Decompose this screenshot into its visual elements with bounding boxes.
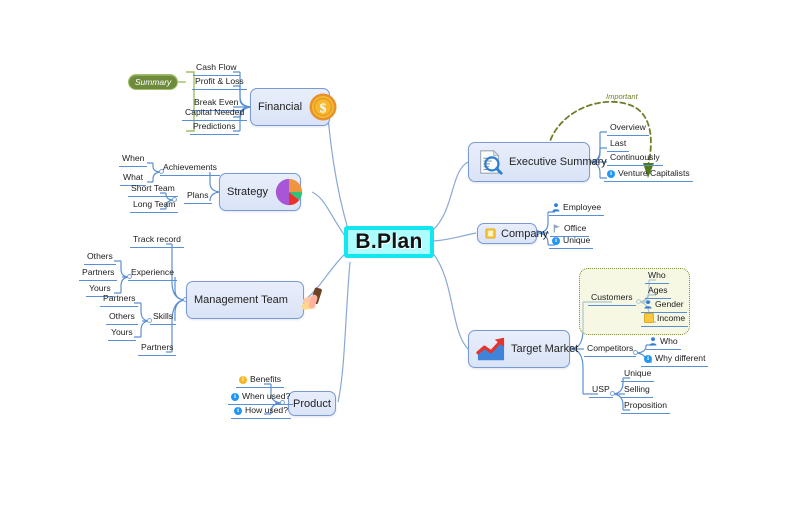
subtopic-label: Cash Flow: [196, 62, 237, 73]
person-icon: [644, 300, 652, 309]
subtopic-profit-loss[interactable]: Profit & Loss: [192, 76, 247, 90]
main-topic-label: Company: [501, 228, 548, 240]
subtopic-label: Why different: [655, 353, 705, 364]
subtopic-plans[interactable]: Plans: [184, 190, 212, 204]
subtopic-who[interactable]: Who: [645, 270, 669, 284]
main-topic-executive-summary[interactable]: Executive Summary: [468, 142, 590, 182]
subtopic-usp-unique[interactable]: Unique: [621, 368, 654, 382]
subtopic-skills-partners[interactable]: Partners: [100, 293, 138, 307]
subtopic-venture-capitalists[interactable]: Venture Capitalists: [604, 168, 693, 182]
subtopic-gender[interactable]: Gender: [641, 299, 687, 313]
subtopic-long-team[interactable]: Long Team: [130, 199, 178, 213]
subtopic-competitors-who[interactable]: Who: [646, 336, 681, 350]
gold-coin-icon: $: [308, 92, 338, 122]
subtopic-capital-needed[interactable]: Capital Needed: [182, 107, 247, 121]
subtopic-label: Profit & Loss: [195, 76, 244, 87]
subtopic-label: Short Team: [131, 183, 175, 194]
subtopic-label: Skills: [153, 311, 173, 322]
subtopic-label: Unique: [563, 235, 590, 246]
main-topic-label: Executive Summary: [509, 156, 607, 168]
subtopic-label: Others: [87, 251, 113, 262]
subtopic-label: Long Team: [133, 199, 175, 210]
subtopic-label: Partners: [141, 342, 173, 353]
subtopic-unique[interactable]: Unique: [549, 235, 593, 249]
subtopic-track-record[interactable]: Track record: [130, 234, 184, 248]
main-topic-label: Management Team: [194, 294, 288, 306]
subtopic-label: Who: [648, 270, 666, 281]
subtopic-label: Benefits: [250, 374, 281, 385]
subtopic-label: When used?: [242, 391, 290, 402]
subtopic-short-team[interactable]: Short Team: [128, 183, 178, 197]
main-topic-label: Target Market: [511, 343, 578, 355]
subtopic-label: Predictions: [193, 121, 236, 132]
subtopic-usp-selling[interactable]: Selling: [621, 384, 653, 398]
main-topic-strategy[interactable]: Strategy: [219, 173, 301, 211]
subtopic-usp-proposition[interactable]: Proposition: [621, 400, 670, 414]
hands-teamwork-icon: [294, 285, 324, 315]
subtopic-continuously[interactable]: Continuously: [607, 152, 663, 166]
callout-summary[interactable]: Summary: [128, 74, 178, 90]
subtopic-experience-partners[interactable]: Partners: [79, 267, 117, 281]
subtopic-skills[interactable]: Skills: [150, 311, 176, 325]
subtopic-label: Selling: [624, 384, 650, 395]
subtopic-label: Last: [610, 138, 626, 149]
flag-icon: [553, 224, 561, 233]
subtopic-label: Office: [564, 223, 586, 234]
subtopic-label: Unique: [624, 368, 651, 379]
subtopic-skills-others[interactable]: Others: [106, 311, 138, 325]
subtopic-experience-others[interactable]: Others: [84, 251, 116, 265]
growth-chart-icon: [476, 335, 506, 363]
subtopic-benefits[interactable]: Benefits: [236, 374, 284, 388]
subtopic-label: Plans: [187, 190, 209, 201]
subtopic-ages[interactable]: Ages: [645, 285, 671, 299]
relationship-label-important: Important: [606, 92, 638, 101]
person-icon: [552, 203, 560, 212]
subtopic-label: Competitors: [587, 343, 633, 354]
subtopic-label: Ages: [648, 285, 668, 296]
subtopic-label: Experience: [131, 267, 174, 278]
svg-text:$: $: [320, 102, 327, 117]
subtopic-label: Income: [657, 313, 685, 324]
subtopic-label: Employee: [563, 202, 601, 213]
subtopic-experience[interactable]: Experience: [128, 267, 177, 281]
yellow-square-icon: [485, 228, 496, 239]
subtopic-overview[interactable]: Overview: [607, 122, 649, 136]
yellow-square-icon: [644, 313, 654, 323]
main-topic-management-team[interactable]: Management Team: [186, 281, 304, 319]
subtopic-cash-flow[interactable]: Cash Flow: [193, 62, 240, 76]
subtopic-skills-yours[interactable]: Yours: [108, 327, 136, 341]
subtopic-achievements[interactable]: Achievements: [160, 162, 220, 176]
info-badge-icon: [231, 393, 239, 401]
mindmap-canvas[interactable]: B.Plan Summary Important Financial $ Cas…: [0, 0, 800, 516]
subtopic-last[interactable]: Last: [607, 138, 629, 152]
main-topic-product[interactable]: Product: [288, 391, 336, 416]
subtopic-label: Who: [660, 336, 678, 347]
subtopic-label: Venture Capitalists: [618, 168, 690, 179]
subtopic-label: Others: [109, 311, 135, 322]
subtopic-label: Partners: [103, 293, 135, 304]
main-topic-label: Product: [293, 398, 331, 410]
main-topic-label: Strategy: [227, 186, 268, 198]
subtopic-usp[interactable]: USP: [589, 384, 613, 398]
subtopic-label: Capital Needed: [185, 107, 244, 118]
subtopic-when[interactable]: When: [119, 153, 147, 167]
document-magnifier-icon: [476, 148, 504, 176]
info-badge-icon: [607, 170, 615, 178]
subtopic-label: Gender: [655, 299, 684, 310]
main-topic-target-market[interactable]: Target Market: [468, 330, 570, 368]
info-badge-icon: [234, 407, 242, 415]
subtopic-label: USP: [592, 384, 610, 395]
main-topic-company[interactable]: Company: [477, 223, 537, 244]
connector-lines: [0, 0, 800, 516]
subtopic-label: How used?: [245, 405, 288, 416]
subtopic-label: Proposition: [624, 400, 667, 411]
subtopic-label: Partners: [82, 267, 114, 278]
info-badge-icon: [552, 237, 560, 245]
subtopic-why-different[interactable]: Why different: [641, 353, 708, 367]
pie-chart-icon: [274, 177, 304, 207]
subtopic-employee[interactable]: Employee: [549, 202, 604, 216]
subtopic-customers[interactable]: Customers: [588, 292, 636, 306]
subtopic-label: Track record: [133, 234, 181, 245]
subtopic-label: Overview: [610, 122, 646, 133]
main-topic-label: Financial: [258, 101, 302, 113]
subtopic-label: Customers: [591, 292, 633, 303]
subtopic-partners[interactable]: Partners: [138, 342, 176, 356]
warn-badge-icon: [239, 376, 247, 384]
subtopic-label: Achievements: [163, 162, 217, 173]
info-badge-icon: [644, 355, 652, 363]
subtopic-income[interactable]: Income: [641, 313, 688, 327]
subtopic-predictions[interactable]: Predictions: [190, 121, 239, 135]
subtopic-how-used[interactable]: How used?: [231, 405, 291, 419]
subtopic-label: What: [123, 172, 143, 183]
central-topic-bplan[interactable]: B.Plan: [344, 226, 434, 258]
subtopic-label: Continuously: [610, 152, 660, 163]
subtopic-label: When: [122, 153, 144, 164]
subtopic-when-used[interactable]: When used?: [228, 391, 293, 405]
person-icon: [649, 337, 657, 346]
subtopic-label: Yours: [111, 327, 133, 338]
main-topic-financial[interactable]: Financial $: [250, 88, 330, 126]
subtopic-competitors[interactable]: Competitors: [584, 343, 636, 357]
